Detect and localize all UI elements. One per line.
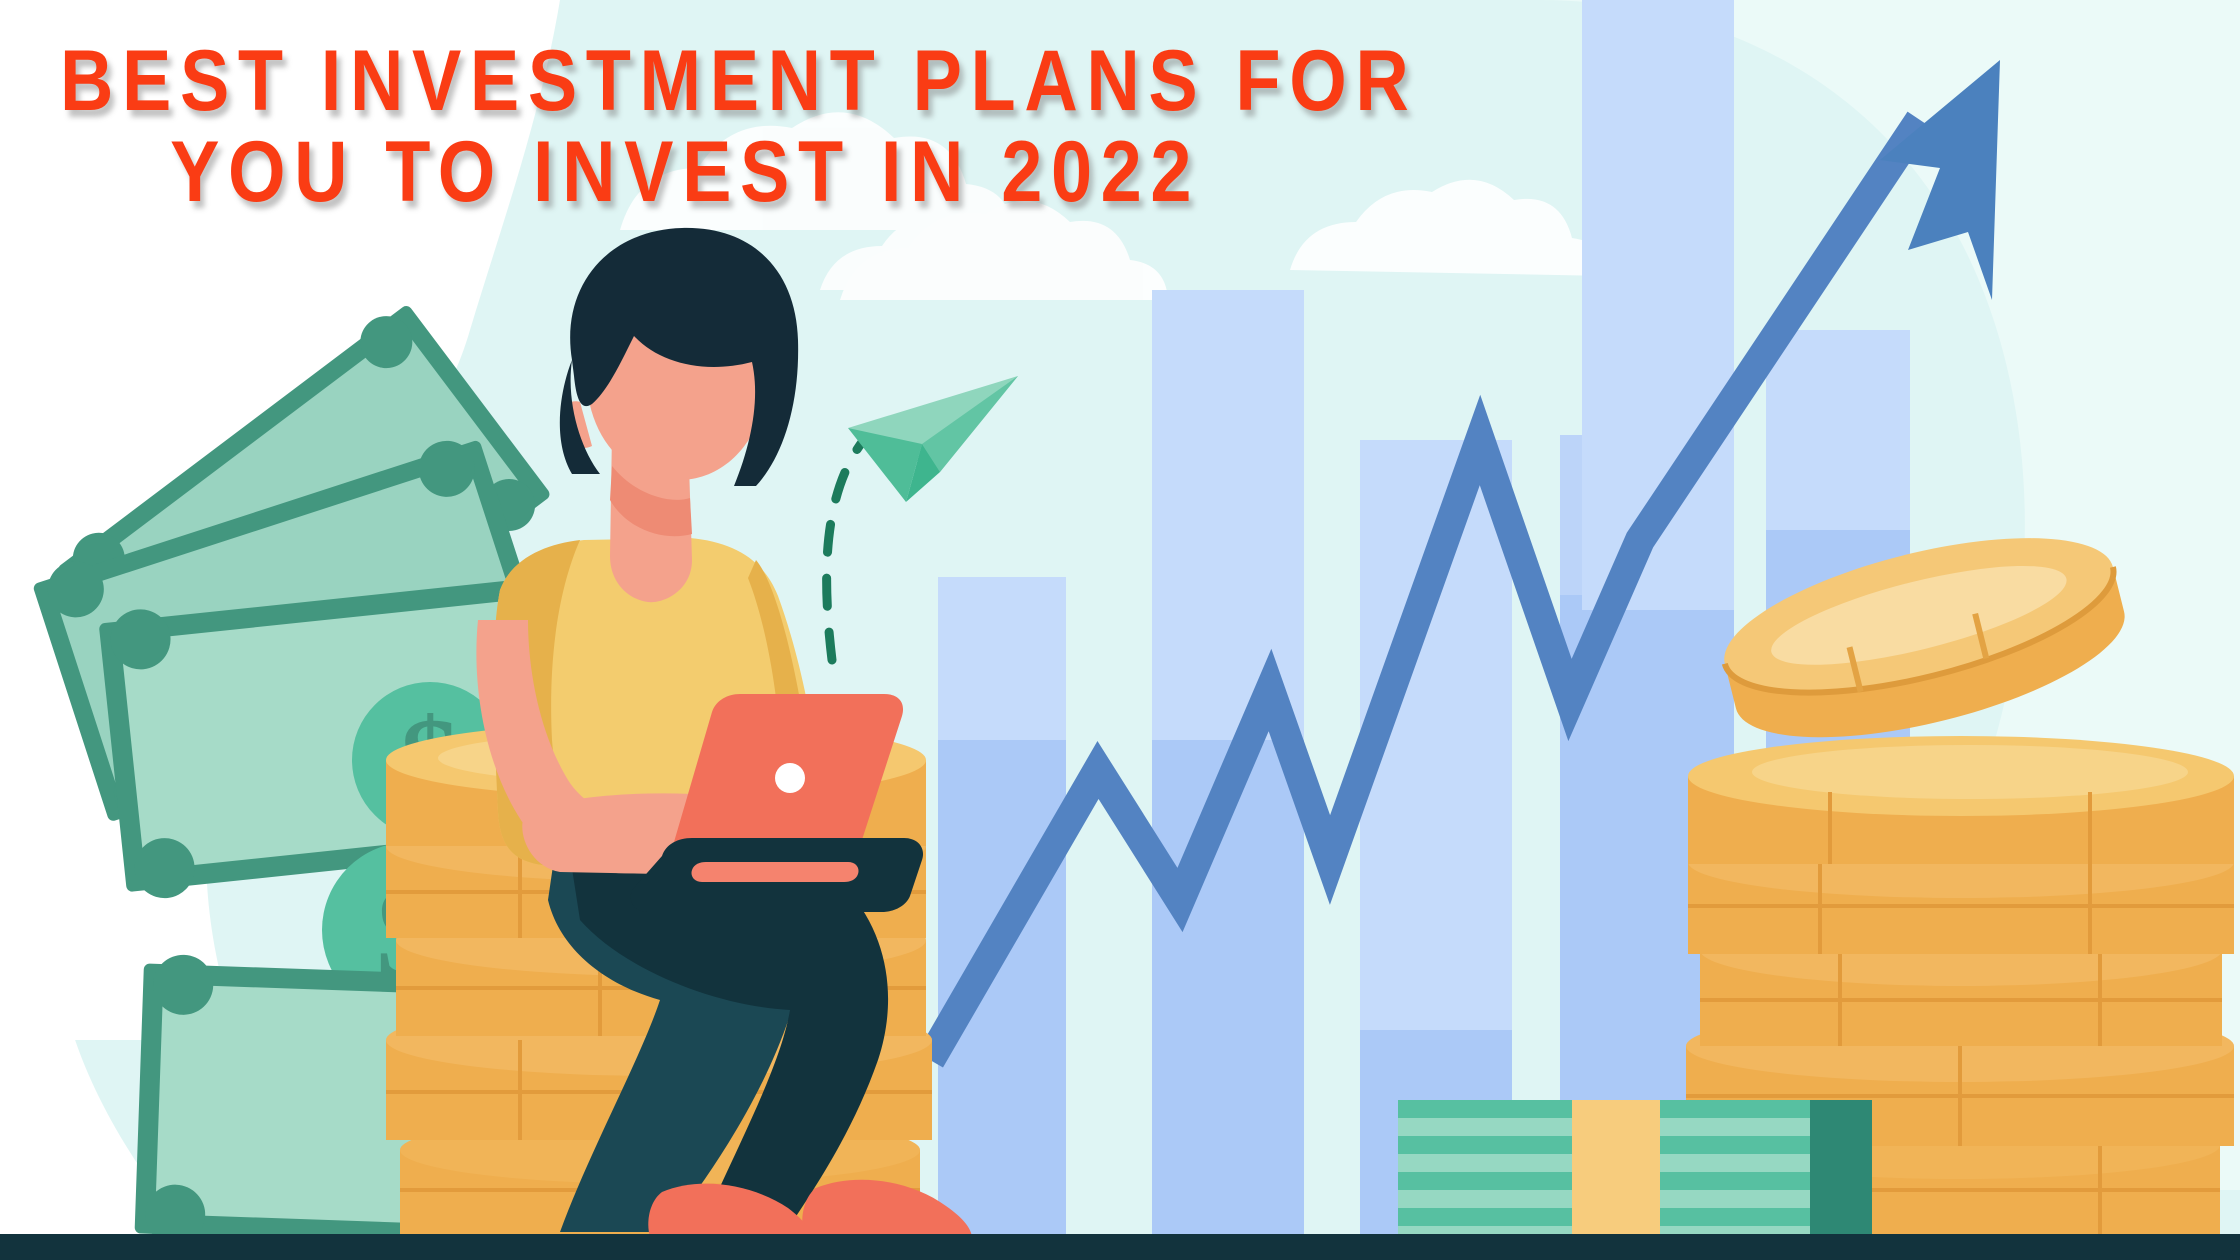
- coin-layer-r1: [1688, 736, 2234, 864]
- cash-bundle-side: [1810, 1100, 1872, 1242]
- laptop-logo-icon: [775, 763, 805, 793]
- illustration-canvas: $ $: [0, 0, 2240, 1260]
- laptop-keyboard-bar: [691, 862, 858, 882]
- cash-bundle: [1398, 1100, 1872, 1242]
- cash-band: [1572, 1100, 1660, 1242]
- ground-bar: [0, 1234, 2240, 1260]
- investment-banner: $ $: [0, 0, 2240, 1260]
